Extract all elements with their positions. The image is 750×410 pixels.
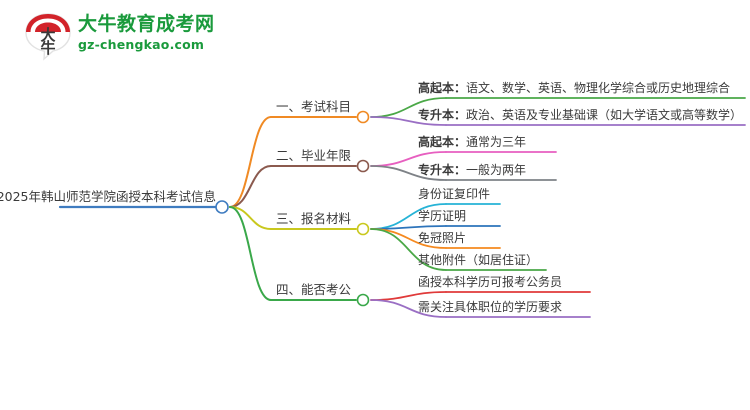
leaf-node-label-4-1[interactable]: 函授本科学历可报考公务员 <box>418 275 562 290</box>
leaf-node-label-4-2[interactable]: 需关注具体职位的学历要求 <box>418 300 562 315</box>
leaf-node-label-2-2[interactable]: 专升本：一般为两年 <box>418 163 526 178</box>
leaf-prefix: 高起本： <box>418 135 466 149</box>
leaf-text: 语文、数学、英语、物理化学综合或历史地理综合 <box>466 81 730 95</box>
leaf-node-label-3-3[interactable]: 免冠照片 <box>418 231 466 246</box>
leaf-node-label-2-1[interactable]: 高起本：通常为三年 <box>418 135 526 150</box>
leaf-text: 通常为三年 <box>466 135 526 149</box>
leaf-node-label-3-1[interactable]: 身份证复印件 <box>418 187 490 202</box>
leaf-node-label-3-4[interactable]: 其他附件（如居住证） <box>418 253 538 268</box>
leaf-prefix: 高起本： <box>418 81 466 95</box>
leaf-node-label-1-2[interactable]: 专升本：政治、英语及专业基础课（如大学语文或高等数学） <box>418 108 742 123</box>
branch-node-label-4[interactable]: 四、能否考公 <box>276 282 351 297</box>
branch-node-label-1[interactable]: 一、考试科目 <box>276 99 351 114</box>
leaf-node-label-3-2[interactable]: 学历证明 <box>418 209 466 224</box>
branch-node-label-2[interactable]: 二、毕业年限 <box>276 148 351 163</box>
branch-node-label-3[interactable]: 三、报名材料 <box>276 211 351 226</box>
root-node-label[interactable]: 2025年韩山师范学院函授本科考试信息 <box>0 189 216 204</box>
leaf-text: 政治、英语及专业基础课（如大学语文或高等数学） <box>466 108 742 122</box>
mindmap: 2025年韩山师范学院函授本科考试信息一、考试科目高起本：语文、数学、英语、物理… <box>0 0 750 410</box>
mindmap-connectors <box>0 0 750 410</box>
leaf-prefix: 专升本： <box>418 108 466 122</box>
leaf-prefix: 专升本： <box>418 163 466 177</box>
leaf-node-label-1-1[interactable]: 高起本：语文、数学、英语、物理化学综合或历史地理综合 <box>418 81 730 96</box>
leaf-text: 一般为两年 <box>466 163 526 177</box>
